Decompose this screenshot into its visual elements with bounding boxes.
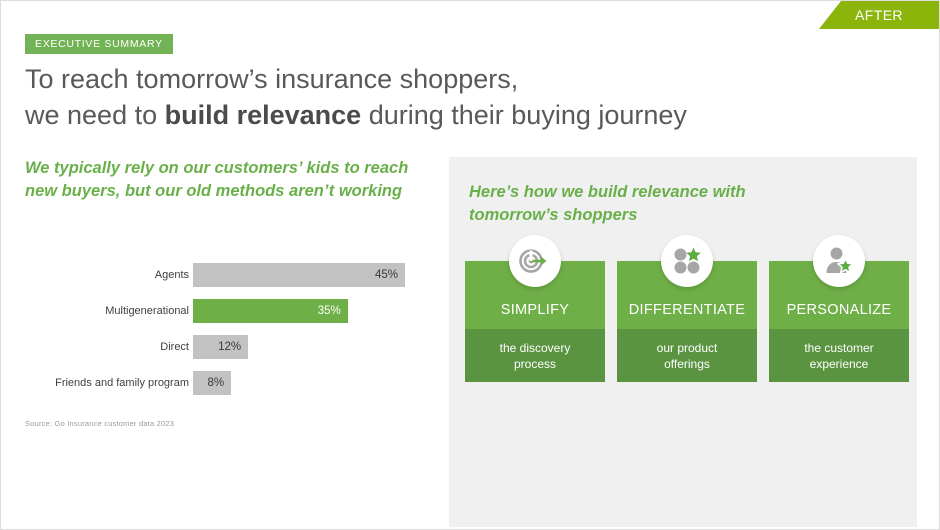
pillar-card-body: the customer experience bbox=[769, 329, 909, 382]
pillar-card-body: the discovery process bbox=[465, 329, 605, 382]
headline-line-2-prefix: we need to bbox=[25, 100, 165, 130]
person-star-icon bbox=[813, 235, 865, 287]
chart-row: Agents 45% bbox=[25, 257, 435, 293]
bar-category-label: Direct bbox=[25, 341, 189, 353]
headline-line-1: To reach tomorrow’s insurance shoppers, bbox=[25, 64, 518, 94]
pillar-card-personalize[interactable]: PERSONALIZE the customer experience bbox=[769, 261, 909, 382]
after-flag-label: AFTER bbox=[855, 7, 903, 23]
slide-canvas: AFTER EXECUTIVE SUMMARY To reach tomorro… bbox=[0, 0, 940, 530]
after-flag-badge: AFTER bbox=[819, 1, 939, 29]
bar-chart: Agents 45% Multigenerational 35% Direct … bbox=[25, 257, 435, 401]
target-spiral-arrow-icon bbox=[509, 235, 561, 287]
bar-category-label: Agents bbox=[25, 269, 189, 281]
right-panel: Here’s how we build relevance with tomor… bbox=[449, 157, 917, 527]
bar-value: 35% bbox=[193, 299, 348, 323]
right-panel-subhead: Here’s how we build relevance with tomor… bbox=[469, 181, 746, 227]
headline-line-2-suffix: during their buying journey bbox=[361, 100, 687, 130]
headline-emphasis: build relevance bbox=[165, 100, 362, 130]
chart-row: Multigenerational 35% bbox=[25, 293, 435, 329]
pillar-card-body: our product offerings bbox=[617, 329, 757, 382]
bar-value: 12% bbox=[193, 335, 248, 359]
source-note: Source: Go Insurance customer data 2023 bbox=[25, 419, 174, 428]
bar-value: 8% bbox=[193, 371, 231, 395]
executive-summary-badge: EXECUTIVE SUMMARY bbox=[25, 34, 173, 54]
pillar-card-list: SIMPLIFY the discovery process DIFFERENT… bbox=[465, 261, 909, 382]
bar-category-label: Multigenerational bbox=[25, 305, 189, 317]
bar-track: 12% bbox=[193, 335, 405, 359]
chart-row: Friends and family program 8% bbox=[25, 365, 435, 401]
page-title: To reach tomorrow’s insurance shoppers,w… bbox=[25, 61, 905, 133]
left-panel: We typically rely on our customers’ kids… bbox=[25, 157, 435, 527]
pillar-card-simplify[interactable]: SIMPLIFY the discovery process bbox=[465, 261, 605, 382]
chart-row: Direct 12% bbox=[25, 329, 435, 365]
circles-star-icon bbox=[661, 235, 713, 287]
pillar-card-differentiate[interactable]: DIFFERENTIATE our product offerings bbox=[617, 261, 757, 382]
bar-track: 45% bbox=[193, 263, 405, 287]
bar-value: 45% bbox=[193, 263, 405, 287]
bar-track: 8% bbox=[193, 371, 405, 395]
left-panel-subhead: We typically rely on our customers’ kids… bbox=[25, 157, 435, 203]
bar-category-label: Friends and family program bbox=[25, 377, 189, 389]
executive-summary-label: EXECUTIVE SUMMARY bbox=[35, 38, 163, 50]
bar-track: 35% bbox=[193, 299, 405, 323]
